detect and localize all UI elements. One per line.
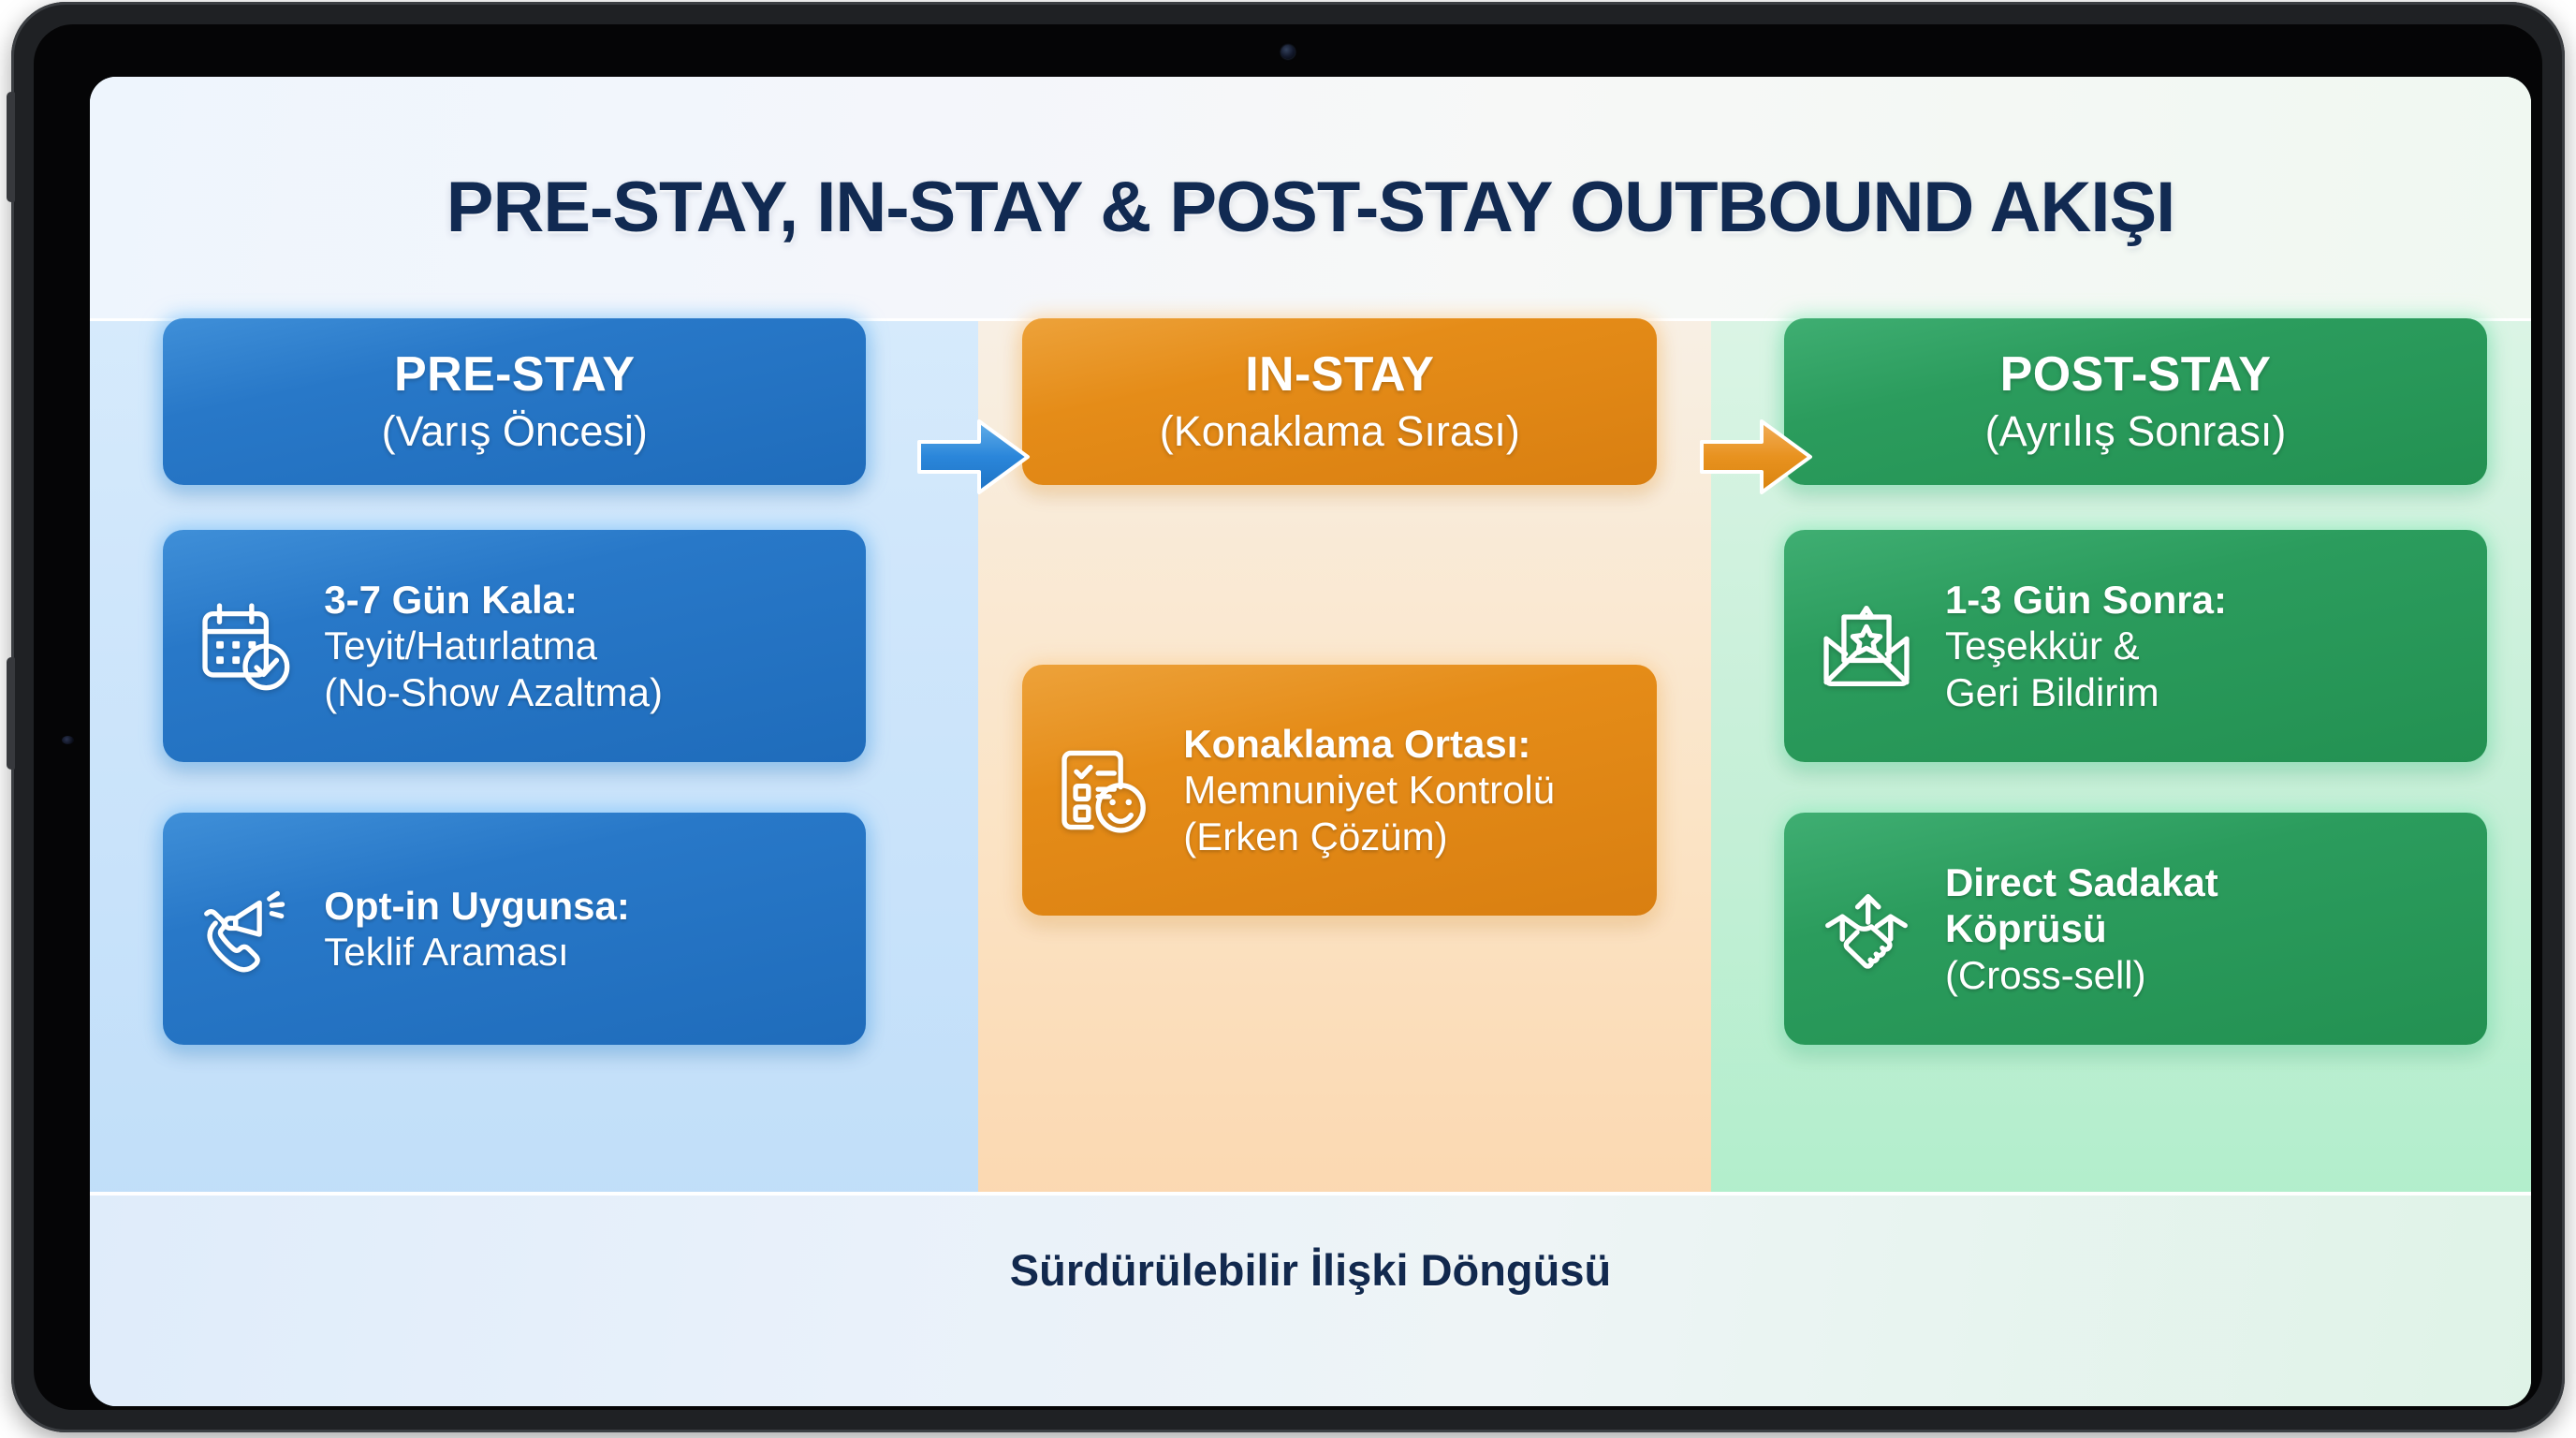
front-camera-icon xyxy=(1281,45,1295,59)
calendar-check-icon xyxy=(191,592,300,700)
stage-header-title: POST-STAY xyxy=(2000,348,2272,401)
card-line-1: Teşekkür & xyxy=(1945,623,2459,668)
card-line-2: (No-Show Azaltma) xyxy=(324,669,838,715)
stage-header-subtitle: (Ayrılış Sonrası) xyxy=(1985,408,2287,455)
arrow-pre-to-in xyxy=(914,412,1033,502)
power-button[interactable] xyxy=(7,657,15,770)
stage-header-title: IN-STAY xyxy=(1245,348,1434,401)
card-heading: Konaklama Ortası: xyxy=(1183,721,1629,767)
card-text: Direct Sadakat Köprüsü (Cross-sell) xyxy=(1945,859,2459,997)
card-text: 1-3 Gün Sonra: Teşekkür & Geri Bildirim xyxy=(1945,577,2459,714)
infographic-viewport: PRE-STAY, IN-STAY & POST-STAY OUTBOUND A… xyxy=(90,77,2531,1406)
footer-strip: Sürdürülebilir İlişki Döngüsü xyxy=(90,1192,2531,1406)
column-pre-stay: PRE-STAY (Varış Öncesi) xyxy=(163,318,866,1196)
footer-caption: Sürdürülebilir İlişki Döngüsü xyxy=(90,1244,2531,1296)
card-post-stay-thanks[interactable]: 1-3 Gün Sonra: Teşekkür & Geri Bildirim xyxy=(1784,530,2487,762)
card-line-2: (Cross-sell) xyxy=(1945,952,2459,998)
stage-header-post-stay[interactable]: POST-STAY (Ayrılış Sonrası) xyxy=(1784,318,2487,485)
card-heading: Opt-in Uygunsa: xyxy=(324,883,838,929)
header-strip: PRE-STAY, IN-STAY & POST-STAY OUTBOUND A… xyxy=(90,77,2531,321)
card-line-1: Teyit/Hatırlatma xyxy=(324,623,838,668)
card-heading: 3-7 Gün Kala: xyxy=(324,577,838,623)
card-text: Konaklama Ortası: Memnuniyet Kontrolü (E… xyxy=(1183,721,1629,858)
card-line-2: (Erken Çözüm) xyxy=(1183,814,1629,859)
stage-header-in-stay[interactable]: IN-STAY (Konaklama Sırası) xyxy=(1022,318,1657,485)
card-in-stay-satisfaction[interactable]: Konaklama Ortası: Memnuniyet Kontrolü (E… xyxy=(1022,665,1657,916)
card-line-1: Memnuniyet Kontrolü xyxy=(1183,767,1629,813)
card-pre-stay-reminder[interactable]: 3-7 Gün Kala: Teyit/Hatırlatma (No-Show … xyxy=(163,530,866,762)
envelope-star-icon xyxy=(1812,592,1921,700)
volume-button[interactable] xyxy=(7,92,15,202)
card-heading: Direct Sadakat xyxy=(1945,859,2459,905)
card-text: 3-7 Gün Kala: Teyit/Hatırlatma (No-Show … xyxy=(324,577,838,714)
card-text: Opt-in Uygunsa: Teklif Araması xyxy=(324,883,838,975)
screenshot-root: PRE-STAY, IN-STAY & POST-STAY OUTBOUND A… xyxy=(0,0,2576,1438)
tablet-bezel: PRE-STAY, IN-STAY & POST-STAY OUTBOUND A… xyxy=(34,24,2542,1410)
arrow-in-to-post xyxy=(1696,412,1816,502)
card-line-1: Teklif Araması xyxy=(324,929,838,975)
column-post-stay: POST-STAY (Ayrılış Sonrası) xyxy=(1784,318,2487,1196)
stage-header-title: PRE-STAY xyxy=(394,348,636,401)
handshake-arrow-icon xyxy=(1812,874,1921,983)
card-heading: 1-3 Gün Sonra: xyxy=(1945,577,2459,623)
card-line-2: Geri Bildirim xyxy=(1945,669,2459,715)
stage-header-pre-stay[interactable]: PRE-STAY (Varış Öncesi) xyxy=(163,318,866,485)
column-in-stay: IN-STAY (Konaklama Sırası) xyxy=(1022,318,1657,1196)
card-pre-stay-optin[interactable]: Opt-in Uygunsa: Teklif Araması xyxy=(163,813,866,1045)
card-post-stay-loyalty[interactable]: Direct Sadakat Köprüsü (Cross-sell) xyxy=(1784,813,2487,1045)
checklist-smiley-icon xyxy=(1050,736,1159,844)
page-title: PRE-STAY, IN-STAY & POST-STAY OUTBOUND A… xyxy=(90,167,2531,248)
card-line-1: Köprüsü xyxy=(1945,905,2459,951)
phone-megaphone-icon xyxy=(191,874,300,983)
stage-header-subtitle: (Varış Öncesi) xyxy=(382,408,648,455)
tablet-frame: PRE-STAY, IN-STAY & POST-STAY OUTBOUND A… xyxy=(11,2,2565,1432)
sensor-dot-icon xyxy=(62,736,74,744)
stage-columns: PRE-STAY (Varış Öncesi) xyxy=(90,318,2531,1196)
stage-header-subtitle: (Konaklama Sırası) xyxy=(1160,408,1520,455)
